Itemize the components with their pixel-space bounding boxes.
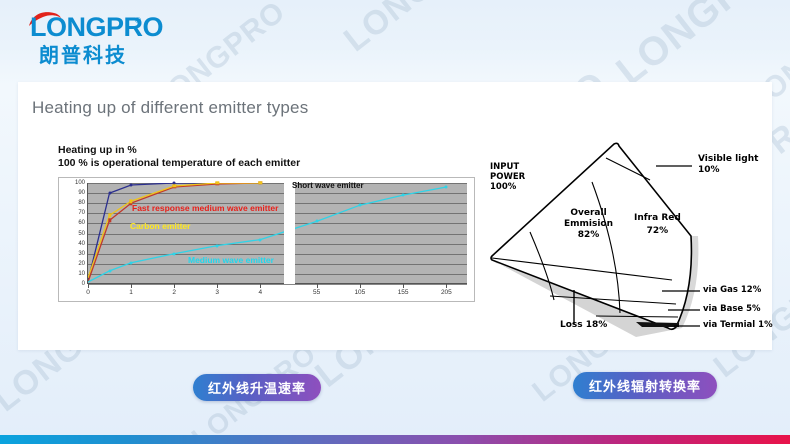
chart-plot-area: 01020304050607080901000123455105155205Sh…	[87, 183, 467, 284]
caption-pill-conversion-rate[interactable]: 红外线辐射转换率	[573, 372, 717, 399]
overall-emission-label: Overall Emmision 82%	[564, 208, 613, 241]
content-card: Heating up of different emitter types He…	[18, 82, 772, 350]
x-axis-tick	[260, 284, 261, 288]
chart-data-point	[172, 184, 175, 187]
chart-series-label: Carbon emitter	[130, 221, 190, 231]
x-axis-tick-label: 2	[172, 289, 176, 296]
x-axis-break	[284, 183, 295, 284]
caption-pill-heating-rate[interactable]: 红外线升温速率	[193, 374, 321, 401]
chart-data-point	[108, 269, 111, 272]
logo-registered-mark: ®	[135, 16, 141, 25]
chart-data-point	[358, 204, 361, 207]
logo-chinese-name: 朗普科技	[39, 39, 127, 68]
y-axis-tick-label: 20	[78, 261, 85, 267]
chart-data-point	[315, 220, 318, 223]
y-axis-tick-label: 60	[78, 220, 85, 226]
via-gas-label: via Gas 12%	[703, 285, 761, 295]
chart-data-point	[259, 181, 262, 184]
y-axis-tick-label: 40	[78, 241, 85, 247]
chart-data-point	[130, 184, 133, 187]
x-axis-tick-label: 1	[129, 289, 133, 296]
chart-gridline	[88, 284, 467, 285]
x-axis-tick-label: 4	[258, 289, 262, 296]
y-axis-tick-label: 10	[78, 271, 85, 277]
y-axis-tick-label: 90	[78, 190, 85, 196]
chart-data-point	[216, 181, 219, 184]
chart-data-point	[108, 214, 111, 217]
y-axis-tick-label: 50	[78, 231, 85, 237]
chart-heading-secondary: 100 % is operational temperature of each…	[58, 157, 478, 169]
page-title: Heating up of different emitter types	[32, 98, 308, 118]
y-axis-tick-label: 80	[78, 200, 85, 206]
x-axis-tick-label: 55	[313, 289, 320, 296]
x-axis-tick	[403, 284, 404, 288]
x-axis-tick	[446, 284, 447, 288]
chart-data-point	[108, 219, 111, 222]
via-terminal-label: via Termial 1%	[703, 320, 773, 330]
x-axis-tick-label: 205	[441, 289, 452, 296]
radiation-conversion-diagram: INPUT POWER 100% Overall Emmision 82% In…	[486, 140, 786, 340]
chart-series-line	[88, 187, 446, 282]
input-power-label: INPUT POWER 100%	[490, 162, 525, 192]
via-base-label: via Base 5%	[703, 304, 761, 314]
chart-data-point	[130, 261, 133, 264]
chart-series-line	[88, 183, 260, 281]
heating-chart: Heating up in % 100 % is operational tem…	[38, 144, 478, 334]
x-axis-tick-label: 0	[86, 289, 90, 296]
chart-series-label: Medium wave emitter	[188, 255, 274, 265]
chart-series-line	[88, 183, 260, 282]
chart-data-point	[108, 192, 111, 195]
x-axis-tick-label: 105	[354, 289, 365, 296]
bottom-accent-bar	[0, 435, 790, 444]
chart-data-point	[402, 194, 405, 197]
chart-series-label: Fast response medium wave emitter	[132, 203, 278, 213]
visible-light-label: Visible light 10%	[698, 154, 758, 176]
x-axis-tick	[317, 284, 318, 288]
chart-series-layer	[88, 183, 468, 284]
chart-data-point	[445, 186, 448, 189]
chart-data-point	[173, 252, 176, 255]
slide-page: LONGPROLONGPROLONGPROLONGPROLONGPROLONGP…	[0, 0, 790, 444]
x-axis-tick-label: 3	[215, 289, 219, 296]
chart-data-point	[259, 238, 262, 241]
chart-data-point	[216, 244, 219, 247]
x-axis-tick	[174, 284, 175, 288]
x-axis-tick-label: 155	[398, 289, 409, 296]
chart-heading-primary: Heating up in %	[58, 144, 478, 156]
loss-label: Loss 18%	[560, 320, 607, 330]
y-axis-tick-label: 30	[78, 251, 85, 257]
chart-series-label: Short wave emitter	[292, 181, 364, 190]
infra-red-label: Infra Red 72%	[634, 212, 681, 238]
y-axis-tick-label: 0	[82, 281, 85, 287]
x-axis-tick	[217, 284, 218, 288]
x-axis-tick	[360, 284, 361, 288]
x-axis-tick	[131, 284, 132, 288]
chart-frame: 01020304050607080901000123455105155205Sh…	[58, 177, 475, 302]
y-axis-tick-label: 100	[75, 180, 85, 186]
y-axis-tick-label: 70	[78, 210, 85, 216]
x-axis-tick	[88, 284, 89, 288]
brand-logo: LONGPRO ® 朗普科技	[22, 12, 154, 62]
